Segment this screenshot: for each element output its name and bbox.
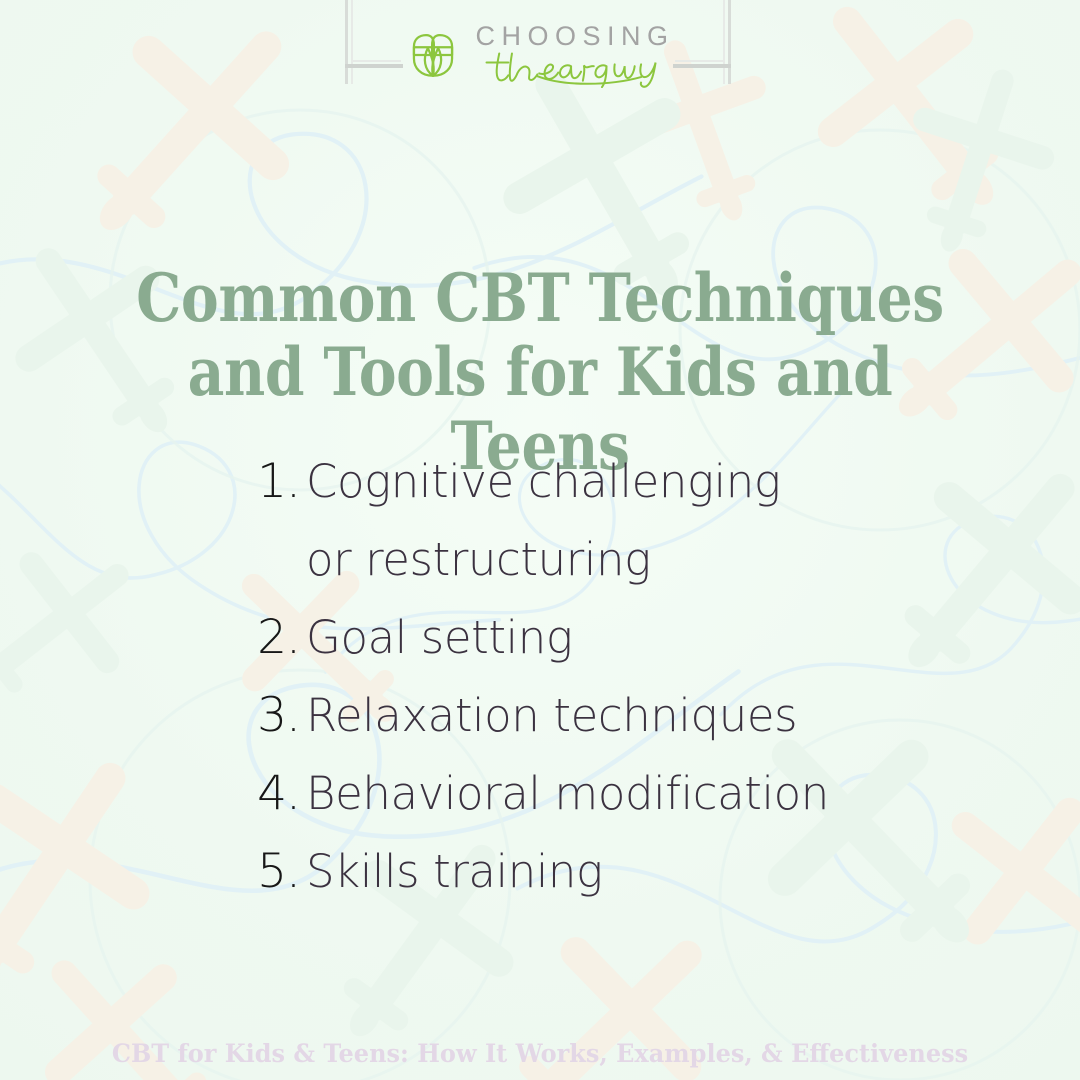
footer-article-title: CBT for Kids & Teens: How It Works, Exam… xyxy=(22,1039,1059,1068)
list-item-label: Cognitive challenging or restructuring xyxy=(300,443,1080,599)
brand-logo[interactable]: CHOOSING xyxy=(0,0,1080,110)
techniques-list: 1. Cognitive challenging or restructurin… xyxy=(0,443,1080,911)
list-item-number: 2. xyxy=(240,599,300,677)
list-item: 1. Cognitive challenging or restructurin… xyxy=(0,443,1080,599)
list-item-label: Goal setting xyxy=(300,599,1080,677)
list-item: 5. Skills training xyxy=(0,833,1080,911)
list-item-number: 1. xyxy=(240,443,300,521)
lotus-flower-icon xyxy=(405,29,461,81)
list-item-number: 4. xyxy=(240,755,300,833)
brand-name-primary: CHOOSING xyxy=(475,23,674,50)
list-item: 4. Behavioral modification xyxy=(0,755,1080,833)
list-item-label: Relaxation techniques xyxy=(300,677,1080,755)
poster-canvas: CHOOSING Common CBT Techniques and Tools… xyxy=(0,0,1080,1080)
list-item-number: 5. xyxy=(240,833,300,911)
list-item-number: 3. xyxy=(240,677,300,755)
brand-name-script-icon xyxy=(479,48,674,88)
list-item-label: Behavioral modification xyxy=(300,755,1080,833)
list-item: 3. Relaxation techniques xyxy=(0,677,1080,755)
list-item-label: Skills training xyxy=(300,833,1080,911)
list-item: 2. Goal setting xyxy=(0,599,1080,677)
brand-wordmark: CHOOSING xyxy=(475,23,674,88)
